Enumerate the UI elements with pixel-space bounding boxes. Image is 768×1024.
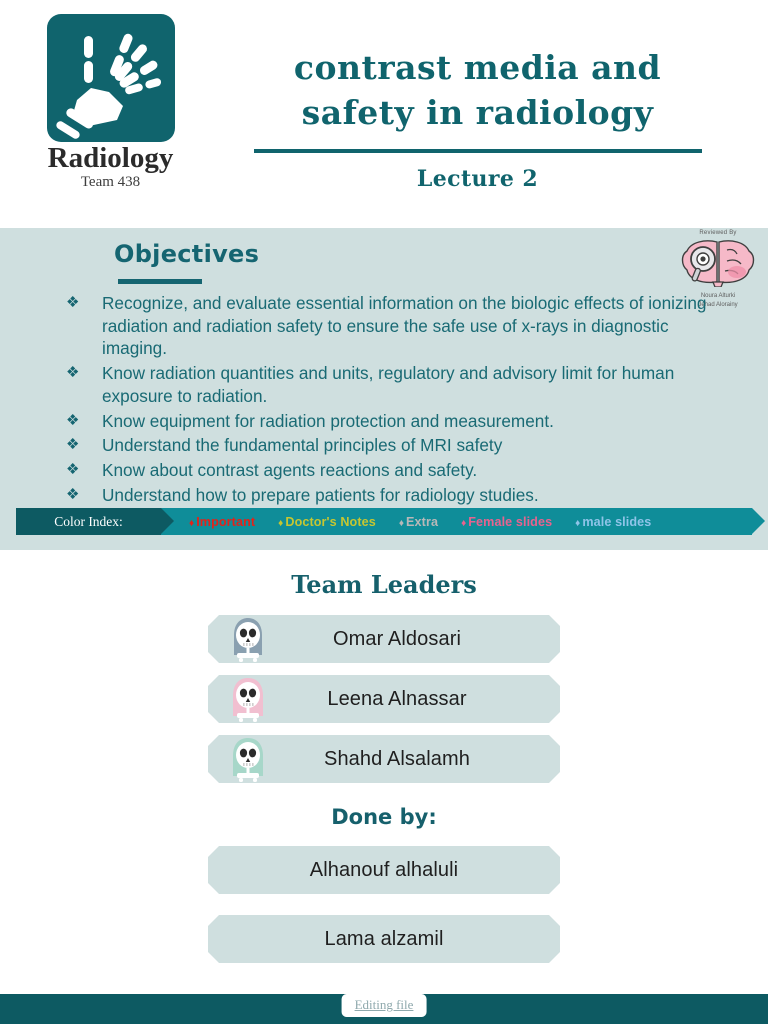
color-index-item-doctors-notes: ♦Doctor's Notes xyxy=(278,515,376,529)
color-index-item-text: Female slides xyxy=(468,515,552,529)
team-leader-card[interactable]: Leena Alnassar xyxy=(208,675,560,723)
objective-item: ❖ Know equipment for radiation protectio… xyxy=(66,410,732,433)
objective-text: Know radiation quantities and units, reg… xyxy=(102,362,732,407)
diamond-bullet-icon: ❖ xyxy=(66,434,102,456)
page-title: contrast media and safety in radiology xyxy=(205,46,750,136)
color-index-items: ♦Important ♦Doctor's Notes ♦Extra ♦Femal… xyxy=(161,508,752,535)
objective-item: ❖ Understand the fundamental principles … xyxy=(66,434,732,457)
team-leader-card[interactable]: Omar Aldosari xyxy=(208,615,560,663)
title-block: contrast media and safety in radiology L… xyxy=(205,46,750,192)
title-divider xyxy=(254,149,702,153)
objectives-list: ❖ Recognize, and evaluate essential info… xyxy=(66,292,732,508)
team-leader-card[interactable]: Shahd Alsalamh xyxy=(208,735,560,783)
color-index-label: Color Index: xyxy=(16,508,161,535)
team-leaders-heading: Team Leaders xyxy=(0,570,768,599)
color-index-item-female-slides: ♦Female slides xyxy=(461,515,552,529)
slide-cover-page: Radiology Team 438 contrast media and sa… xyxy=(0,0,768,1024)
title-line-2: safety in radiology xyxy=(205,91,750,136)
team-leader-name: Omar Aldosari xyxy=(270,628,560,651)
diamond-dot-icon: ♦ xyxy=(575,518,580,529)
objective-text: Understand the fundamental principles of… xyxy=(102,434,732,457)
reviewed-by-label: Reviewed By xyxy=(676,230,760,236)
diamond-bullet-icon: ❖ xyxy=(66,292,102,314)
team-leader-name: Shahd Alsalamh xyxy=(270,748,560,771)
color-index-item-text: Extra xyxy=(406,515,438,529)
objective-item: ❖ Recognize, and evaluate essential info… xyxy=(66,292,732,360)
diamond-bullet-icon: ❖ xyxy=(66,484,102,506)
color-index-item-text: Doctor's Notes xyxy=(285,515,375,529)
brain-magnifier-icon xyxy=(676,237,760,291)
diamond-dot-icon: ♦ xyxy=(278,518,283,529)
color-index-ribbon: Color Index: ♦Important ♦Doctor's Notes … xyxy=(16,508,752,535)
objective-text: Understand how to prepare patients for r… xyxy=(102,484,732,507)
objective-item: ❖ Understand how to prepare patients for… xyxy=(66,484,732,507)
header: Radiology Team 438 contrast media and sa… xyxy=(0,0,768,228)
done-by-name: Alhanouf alhaluli xyxy=(208,859,560,882)
lecture-label: Lecture 2 xyxy=(205,166,750,192)
diamond-bullet-icon: ❖ xyxy=(66,410,102,432)
team-leader-name: Leena Alnassar xyxy=(270,688,560,711)
done-by-name: Lama alzamil xyxy=(208,928,560,951)
diamond-dot-icon: ♦ xyxy=(189,518,194,529)
objective-item: ❖ Know radiation quantities and units, r… xyxy=(66,362,732,407)
logo-wordmark: Radiology xyxy=(18,143,203,173)
objectives-heading-underline xyxy=(118,279,202,284)
color-index-item-male-slides: ♦male slides xyxy=(575,515,651,529)
done-by-card[interactable]: Lama alzamil xyxy=(208,915,560,963)
objectives-heading: Objectives xyxy=(114,240,259,268)
hand-xray-icon xyxy=(47,14,175,142)
objectives-section: Objectives Reviewed By xyxy=(0,228,768,550)
objective-text: Recognize, and evaluate essential inform… xyxy=(102,292,732,360)
title-line-1: contrast media and xyxy=(205,46,750,91)
color-index-item-extra: ♦Extra xyxy=(399,515,438,529)
diamond-bullet-icon: ❖ xyxy=(66,362,102,384)
objective-item: ❖ Know about contrast agents reactions a… xyxy=(66,459,732,482)
objective-text: Know equipment for radiation protection … xyxy=(102,410,732,433)
color-index-item-text: Important xyxy=(196,515,255,529)
diamond-dot-icon: ♦ xyxy=(461,518,466,529)
objective-text: Know about contrast agents reactions and… xyxy=(102,459,732,482)
logo-team-number: Team 438 xyxy=(18,174,203,191)
skull-avatar-icon xyxy=(226,735,270,783)
skull-avatar-icon xyxy=(226,615,270,663)
team-logo: Radiology Team 438 xyxy=(18,14,203,191)
done-by-heading: Done by: xyxy=(0,805,768,829)
diamond-dot-icon: ♦ xyxy=(399,518,404,529)
color-index-item-text: male slides xyxy=(582,515,651,529)
color-index-item-important: ♦Important xyxy=(189,515,255,529)
editing-file-link[interactable]: Editing file xyxy=(342,994,427,1017)
footer-bar: Editing file xyxy=(0,994,768,1024)
skull-avatar-icon xyxy=(226,675,270,723)
done-by-card[interactable]: Alhanouf alhaluli xyxy=(208,846,560,894)
diamond-bullet-icon: ❖ xyxy=(66,459,102,481)
